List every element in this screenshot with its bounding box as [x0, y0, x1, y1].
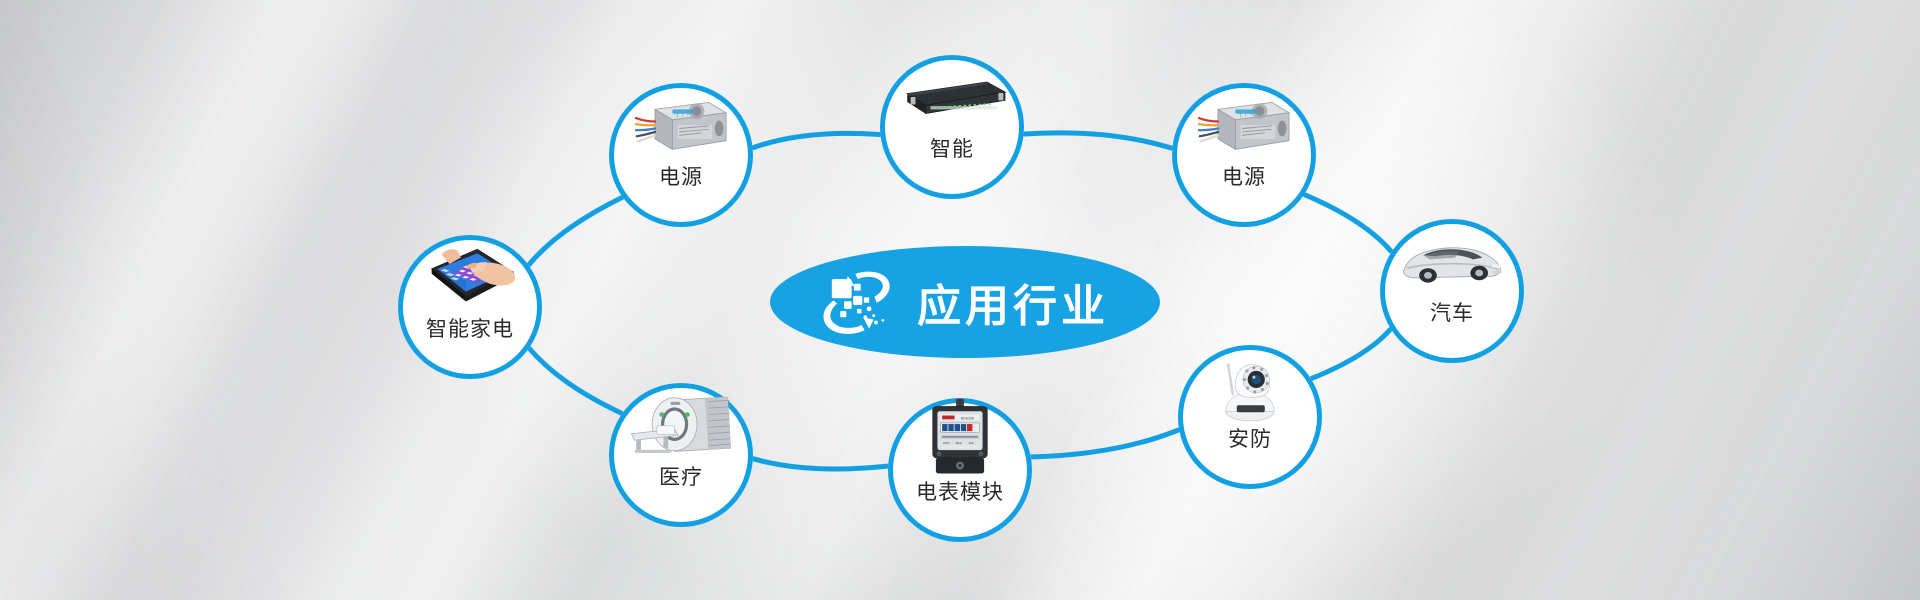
node-automotive[interactable]: 汽车	[1380, 219, 1524, 363]
node-smart[interactable]: 智能	[880, 55, 1024, 199]
power-supply-unit-icon	[609, 83, 753, 167]
center-badge: 应用行业	[770, 246, 1160, 358]
ip-camera-icon	[1178, 345, 1322, 429]
mri-scanner-icon	[609, 383, 753, 467]
connector-security-to-meter	[1032, 430, 1178, 457]
connector-medical-to-smart-home	[530, 349, 621, 413]
node-label: 智能	[930, 139, 974, 160]
connector-automotive-to-security	[1312, 330, 1390, 379]
connector-smart-to-power-right	[1025, 133, 1172, 148]
center-badge-title: 应用行业	[917, 270, 1109, 334]
connector-power-right-to-automotive	[1305, 195, 1391, 251]
svg-text:10A: 10A	[969, 441, 974, 445]
node-smart-home[interactable]: 智能家电	[398, 235, 542, 379]
connector-power-left-to-smart	[754, 133, 880, 147]
node-label: 电源	[1222, 167, 1266, 188]
node-medical[interactable]: 医疗	[609, 383, 753, 527]
node-label: 电源	[659, 167, 703, 188]
node-power-left[interactable]: 电源	[609, 83, 753, 227]
svg-text:220V: 220V	[943, 441, 950, 445]
node-power-right[interactable]: 电源	[1172, 83, 1316, 227]
node-label: 汽车	[1430, 303, 1474, 324]
node-label: 安防	[1228, 429, 1272, 450]
node-label: 智能家电	[426, 319, 514, 340]
node-label: 电表模块	[916, 482, 1004, 503]
connector-smart-home-to-power-left	[529, 198, 622, 265]
connector-meter-to-medical	[754, 459, 887, 469]
tablet-touch-icon	[398, 235, 542, 319]
node-meter[interactable]: DDS228 220V50Hz10A	[888, 398, 1032, 542]
sports-car-icon	[1380, 219, 1524, 303]
svg-text:50Hz: 50Hz	[955, 441, 962, 445]
svg-text:DDS228: DDS228	[961, 416, 974, 420]
application-industries-diagram: 电源 智能	[0, 0, 1920, 600]
electric-meter-icon: DDS228 220V50Hz10A	[888, 398, 1032, 482]
rackmount-device-icon	[880, 55, 1024, 139]
node-security[interactable]: 安防	[1178, 345, 1322, 489]
node-label: 医疗	[659, 467, 703, 488]
orbit-pixel-logo-icon	[821, 267, 899, 337]
power-supply-unit-icon	[1172, 83, 1316, 167]
